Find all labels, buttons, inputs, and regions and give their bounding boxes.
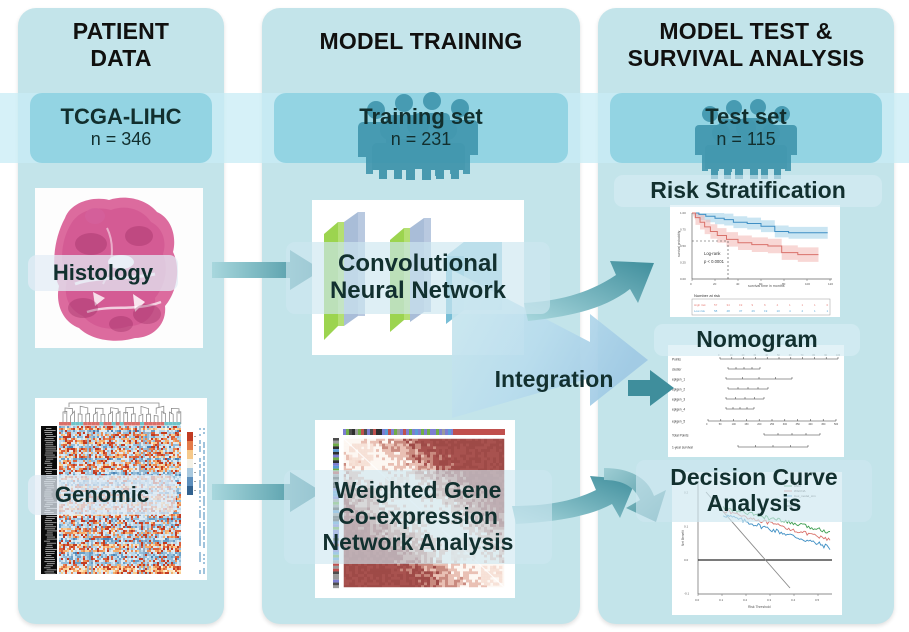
label-wgcna: Weighted Gene Co-expression Network Anal… bbox=[284, 470, 552, 564]
label-risk-stratification-text: Risk Stratification bbox=[650, 178, 846, 204]
label-histology-text: Histology bbox=[53, 261, 153, 286]
label-genomic: Genomic bbox=[28, 475, 176, 515]
figure-canvas: PATIENT DATA MODEL TRAINING MODEL TEST &… bbox=[0, 0, 909, 632]
label-cnn: Convolutional Neural Network bbox=[286, 242, 550, 314]
label-genomic-text: Genomic bbox=[55, 483, 149, 508]
label-cnn-line: Convolutional bbox=[330, 251, 506, 278]
column-title-patient-data: PATIENT DATA bbox=[18, 0, 224, 90]
label-nomogram: Nomogram bbox=[654, 324, 860, 356]
column-title-line: SURVIVAL ANALYSIS bbox=[598, 45, 894, 72]
nomogram-plot: Points0102030405060708090100clusterepige… bbox=[668, 345, 844, 457]
label-integration: Integration bbox=[470, 362, 638, 398]
dca-xlabel: Risk Threshold bbox=[748, 605, 771, 609]
kaplan-meier-plot: Log-rank p < 0.0001 survival time in mon… bbox=[670, 205, 840, 317]
label-wgcna-line: Co-expression bbox=[323, 504, 514, 530]
km-risk-table-title: Number at risk bbox=[694, 293, 720, 298]
column-title-line: PATIENT bbox=[18, 18, 224, 45]
label-cnn-line: Neural Network bbox=[330, 278, 506, 305]
column-title-line: DATA bbox=[18, 45, 224, 72]
cohort-n: n = 231 bbox=[391, 129, 452, 151]
label-integration-text: Integration bbox=[495, 367, 614, 393]
label-nomogram-text: Nomogram bbox=[696, 327, 817, 353]
cohort-n: n = 346 bbox=[91, 129, 152, 151]
dca-ylabel: Net Benefit bbox=[681, 530, 685, 546]
cohort-n: n = 115 bbox=[716, 129, 775, 151]
label-wgcna-line: Network Analysis bbox=[323, 530, 514, 556]
cohort-name: Test set bbox=[705, 105, 787, 128]
label-risk-stratification: Risk Stratification bbox=[614, 175, 882, 207]
label-dca-line: Analysis bbox=[670, 491, 837, 517]
column-title-model-training: MODEL TRAINING bbox=[262, 0, 580, 90]
label-dca-line: Decision Curve bbox=[670, 465, 837, 491]
cohort-name: TCGA-LIHC bbox=[61, 105, 182, 128]
column-title-line: MODEL TRAINING bbox=[262, 28, 580, 55]
cohort-name: Training set bbox=[359, 105, 482, 128]
km-annotation-line-1: Log-rank bbox=[704, 251, 721, 256]
column-title-model-test: MODEL TEST & SURVIVAL ANALYSIS bbox=[598, 0, 894, 90]
column-title-line: MODEL TEST & bbox=[598, 18, 894, 45]
km-annotation-line-2: p < 0.0001 bbox=[704, 259, 725, 264]
label-histology: Histology bbox=[28, 255, 178, 291]
label-decision-curve-analysis: Decision Curve Analysis bbox=[636, 460, 872, 522]
label-wgcna-line: Weighted Gene bbox=[323, 478, 514, 504]
km-xlabel: survival time in months bbox=[748, 284, 785, 288]
